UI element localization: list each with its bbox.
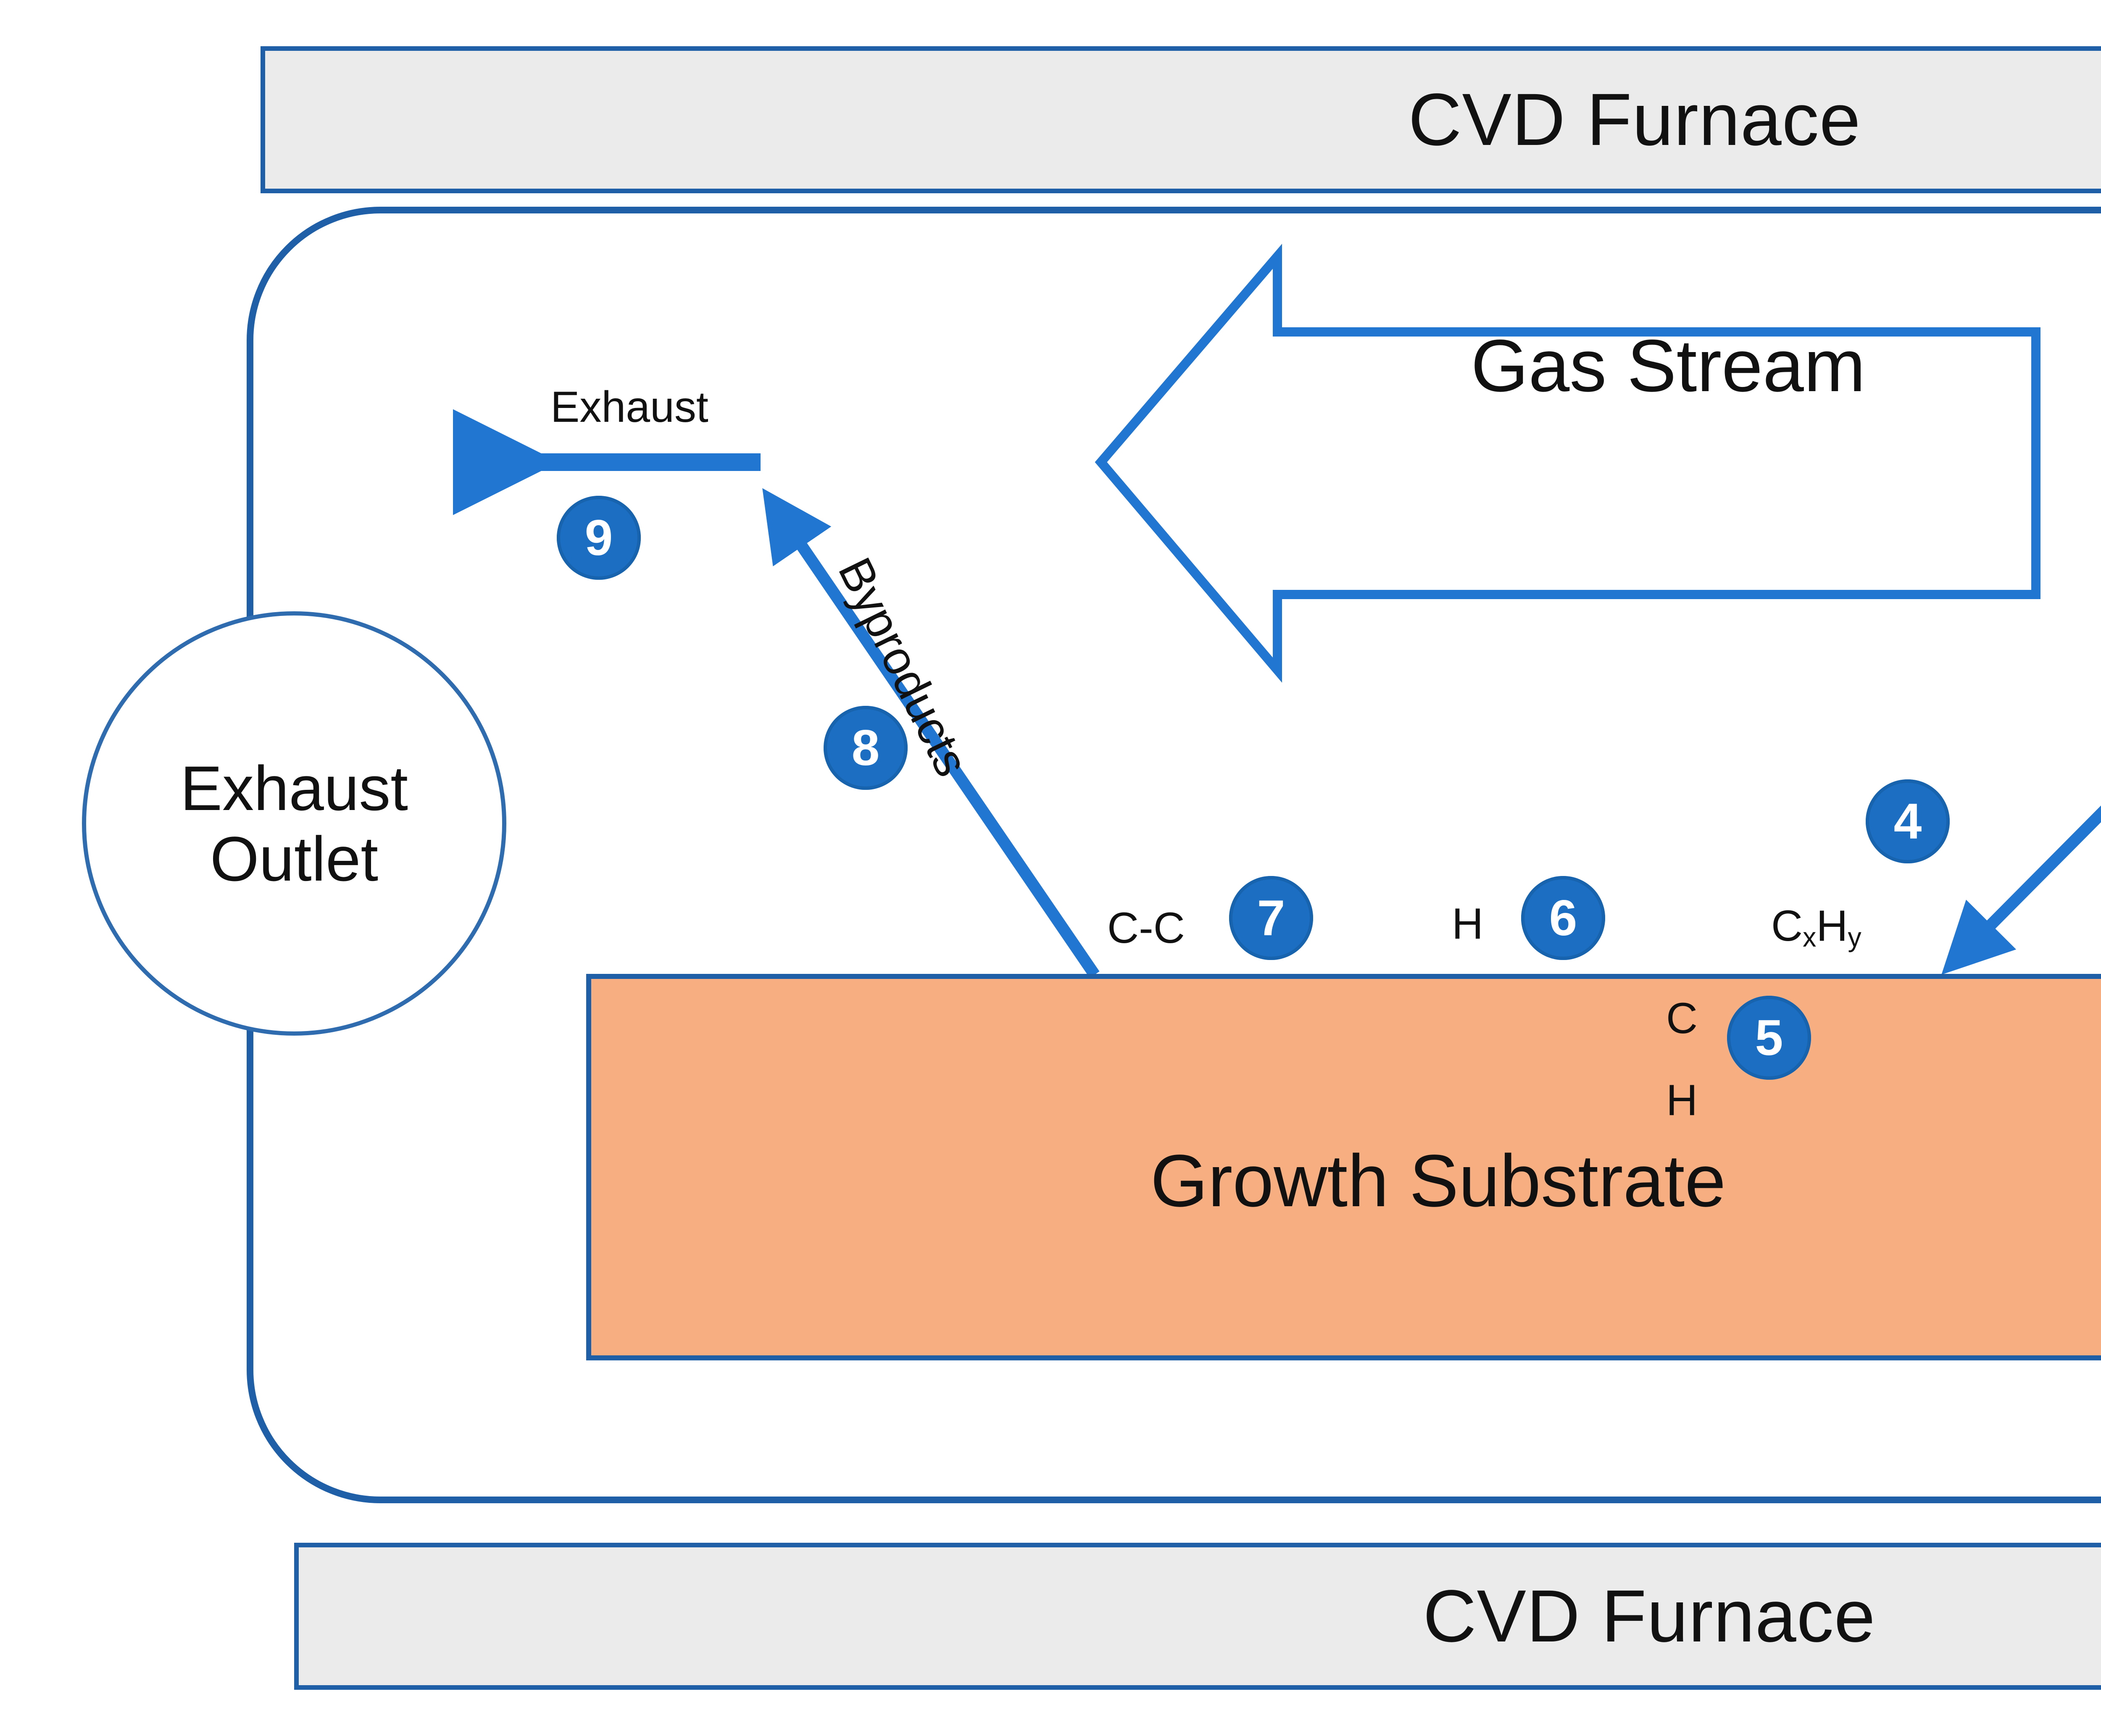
cxhy-surface-sub-y: y: [1848, 922, 1861, 952]
cxhy-surface-sub-x: x: [1803, 922, 1816, 952]
growth-substrate-label: Growth Substrate: [591, 1139, 2101, 1223]
step-badge-6[interactable]: 6: [1521, 876, 1605, 960]
step-badge-8[interactable]: 8: [824, 706, 908, 790]
cvd-diagram-canvas: CVD Furnace CVD Furnace Exhaust Outlet G…: [0, 0, 2101, 1736]
exhaust-label: Exhaust: [550, 384, 708, 430]
cvd-furnace-top-banner: CVD Furnace: [261, 46, 2101, 193]
hydrogen-surface-label: H: [1452, 901, 1483, 947]
hydrogen-in-substrate-label: H: [1666, 1078, 1698, 1123]
carbon-carbon-label: C-C: [1107, 905, 1185, 951]
gas-stream-label: Gas Stream: [1311, 324, 2025, 408]
growth-substrate: Growth Substrate: [586, 974, 2101, 1360]
exhaust-outlet-label: Exhaust Outlet: [180, 753, 408, 894]
step-badge-7[interactable]: 7: [1229, 876, 1313, 960]
cvd-furnace-bottom-banner: CVD Furnace: [294, 1543, 2101, 1690]
step-badge-4[interactable]: 4: [1866, 779, 1950, 863]
cxhy-surface-h: H: [1816, 902, 1848, 950]
cvd-furnace-bottom-label: CVD Furnace: [1423, 1574, 1875, 1659]
step-badge-5[interactable]: 5: [1727, 996, 1811, 1080]
exhaust-outlet-port: Exhaust Outlet: [82, 611, 506, 1036]
cvd-furnace-top-label: CVD Furnace: [1408, 77, 1861, 162]
cxhy-surface-c: C: [1771, 902, 1803, 950]
gas-stream-block-arrow: [1101, 256, 2036, 670]
carbon-in-substrate-label: C: [1666, 996, 1698, 1042]
growth-substrate-text: Growth Substrate: [1151, 1140, 1726, 1222]
step-badge-9[interactable]: 9: [557, 496, 641, 580]
cxhy-surface-label: CxHy: [1771, 903, 1861, 952]
